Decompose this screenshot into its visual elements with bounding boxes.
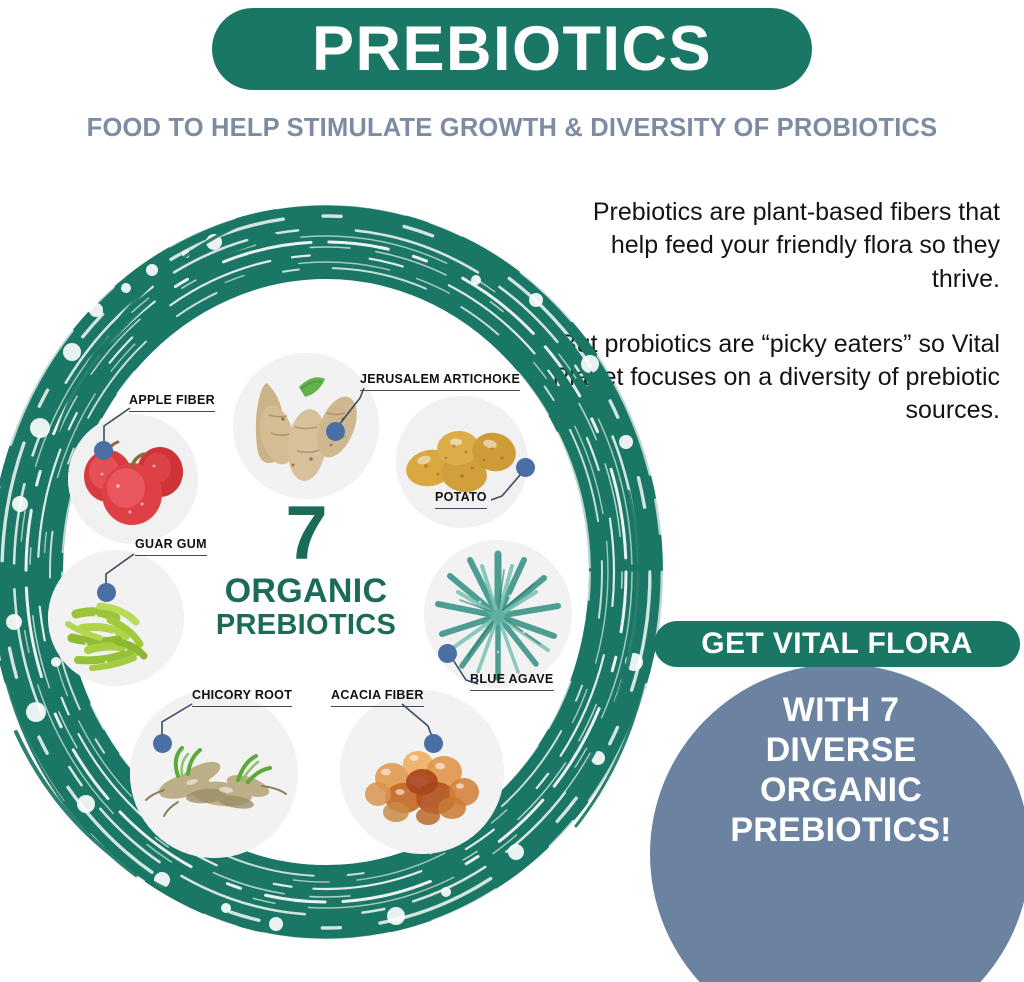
get-vital-flora-label: GET VITAL FLORA [701, 627, 973, 661]
badge-line-3: ORGANIC [686, 770, 996, 810]
dot-jerusalem-artichoke [326, 422, 345, 441]
center-lockup: 7 ORGANIC PREBIOTICS [196, 498, 416, 640]
page-title: PREBIOTICS [312, 18, 712, 81]
label-apple-fiber: APPLE FIBER [129, 393, 215, 412]
badge-line-2: DIVERSE [686, 730, 996, 770]
chicory-root-illustration [130, 690, 298, 858]
dot-chicory-root [153, 734, 172, 753]
vital-flora-circle-copy: WITH 7 DIVERSE ORGANIC PREBIOTICS! [686, 690, 996, 850]
dot-guar-gum [97, 583, 116, 602]
infographic-canvas: PREBIOTICS FOOD TO HELP STIMULATE GROWTH… [0, 0, 1024, 982]
dot-potato [516, 458, 535, 477]
center-line-prebiotics: PREBIOTICS [196, 610, 416, 640]
label-chicory-root: CHICORY ROOT [192, 688, 292, 707]
center-number: 7 [196, 498, 416, 570]
title-pill: PREBIOTICS [212, 8, 812, 90]
label-potato: POTATO [435, 490, 487, 509]
dot-apple-fiber [94, 441, 113, 460]
page-subtitle: FOOD TO HELP STIMULATE GROWTH & DIVERSIT… [0, 114, 1024, 143]
dot-blue-agave [438, 644, 457, 663]
dot-acacia-fiber [424, 734, 443, 753]
chicory-root-photo [130, 690, 298, 858]
get-vital-flora-pill[interactable]: GET VITAL FLORA [654, 621, 1020, 667]
center-line-organic: ORGANIC [196, 574, 416, 610]
badge-line-4: PREBIOTICS! [686, 810, 996, 850]
badge-line-1: WITH 7 [686, 690, 996, 730]
label-jerusalem-artichoke: JERUSALEM ARTICHOKE [360, 372, 520, 391]
